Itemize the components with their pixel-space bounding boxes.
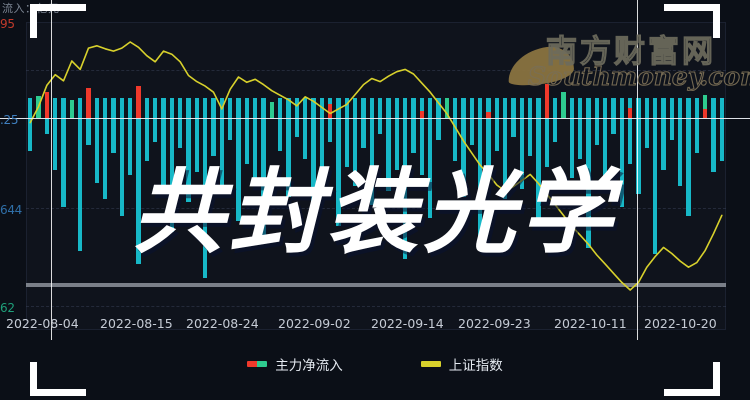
x-axis-tick-label: 2022-09-14: [371, 316, 444, 331]
legend-label: 主力净流入: [275, 354, 343, 374]
x-axis-tick-label: 2022-09-02: [278, 316, 351, 331]
x-axis-tick-label: 2022-10-11: [554, 316, 627, 331]
line-series-shanghai-composite-index: [26, 22, 726, 330]
frame-corner-bottom-right: [713, 362, 720, 396]
y-axis-tick-label: 62: [0, 301, 15, 315]
y-axis-tick-label: 644: [0, 203, 22, 217]
chart-screenshot: 流入：亿元 南方财富网 Southmoney.com 95.2564462 20…: [0, 0, 750, 400]
x-axis-tick-label: 2022-09-23: [458, 316, 531, 331]
crosshair-vertical-right[interactable]: [637, 0, 638, 340]
x-axis-tick-label: 2022-08-04: [6, 316, 79, 331]
y-axis-tick-label: 95: [0, 17, 15, 31]
legend-item-shanghai-composite-index[interactable]: 上证指数: [421, 354, 503, 374]
frame-corner-bottom-right: [664, 389, 720, 396]
legend-label: 上证指数: [449, 354, 503, 374]
legend-swatch-icon: [421, 361, 441, 367]
frame-corner-bottom-left: [30, 362, 37, 396]
legend-item-main-net-inflow[interactable]: 主力净流入: [247, 354, 343, 374]
x-axis-tick-label: 2022-08-24: [186, 316, 259, 331]
x-axis-labels: 2022-08-042022-08-152022-08-242022-09-02…: [0, 316, 750, 338]
x-axis-tick-label: 2022-10-20: [644, 316, 717, 331]
crosshair-vertical-left[interactable]: [51, 0, 52, 340]
frame-corner-top-right: [713, 4, 720, 38]
x-axis-tick-label: 2022-08-15: [100, 316, 173, 331]
frame-corner-bottom-left: [30, 389, 86, 396]
legend-swatch-icon: [247, 361, 267, 367]
frame-corner-top-left: [30, 4, 37, 38]
chart-legend: 主力净流入上证指数: [0, 352, 750, 376]
y-axis-tick-label: .25: [0, 113, 18, 127]
frame-corner-top-right: [664, 4, 720, 11]
frame-corner-top-left: [30, 4, 86, 11]
